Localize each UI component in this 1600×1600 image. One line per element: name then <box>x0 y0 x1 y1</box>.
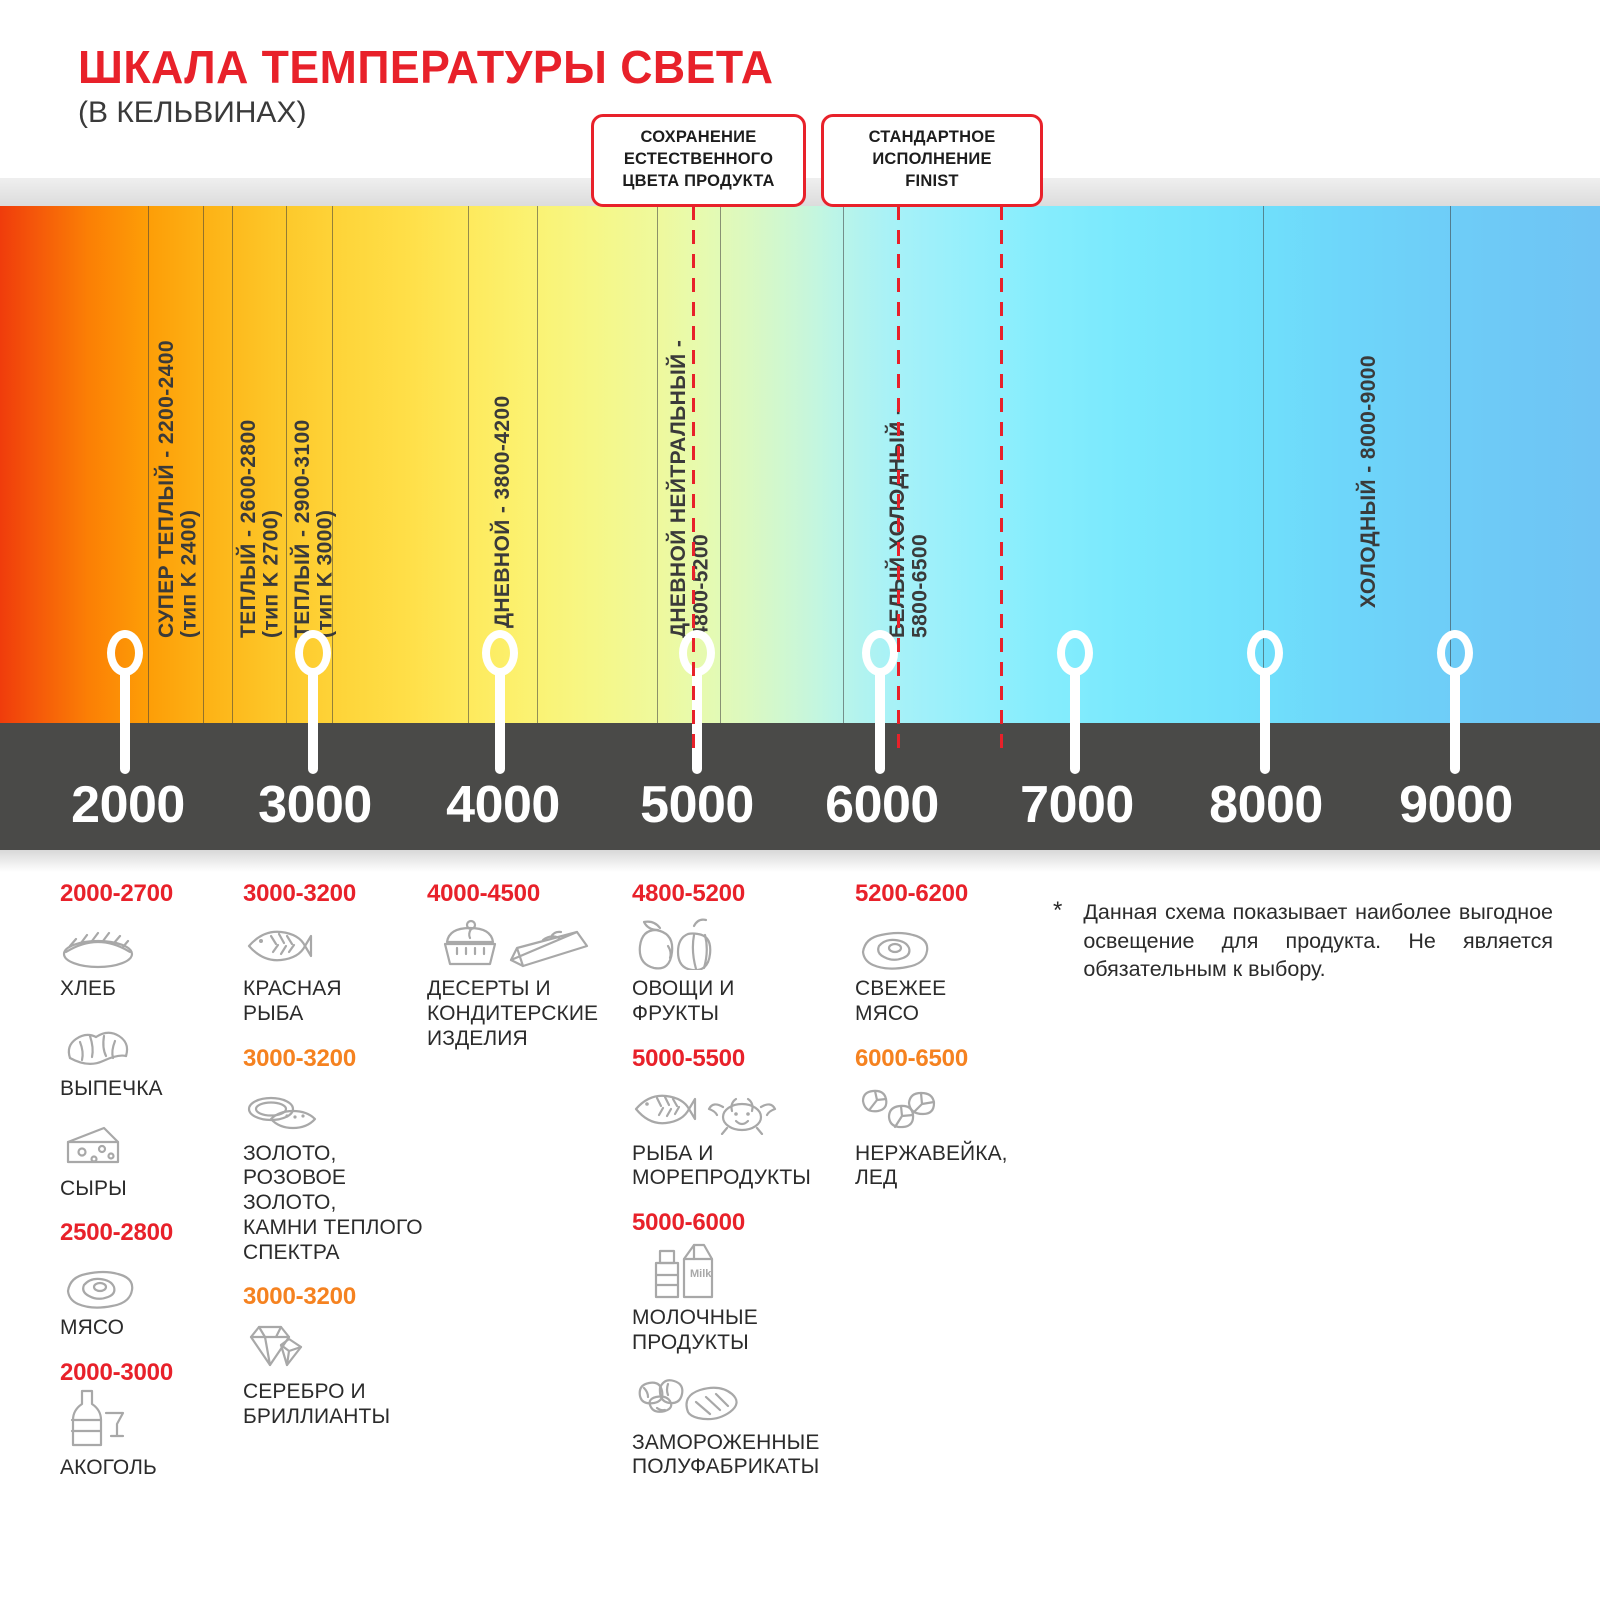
legend-item-label: НЕРЖАВЕЙКА, ЛЕД <box>855 1142 1035 1192</box>
legend-group-range: 2000-2700 <box>60 880 235 908</box>
legend-item: СЫРЫ <box>60 1118 235 1202</box>
legend-group-range: 5000-5500 <box>632 1045 847 1073</box>
band-divider <box>148 206 149 723</box>
footnote-marker: * <box>1053 898 1062 984</box>
marker-line-finist-low <box>897 206 900 751</box>
band-divider <box>537 206 538 723</box>
band-label-bely-holodny: БЕЛЫЙ ХОЛОДНЫЙ -5800-6500 <box>887 318 932 638</box>
footnote-text: Данная схема показывает наиболее выгодно… <box>1083 898 1553 984</box>
axis-tick-8000: 8000 <box>1209 775 1323 835</box>
legend-group: 3000-3200ЗОЛОТО, РОЗОВОЕ ЗОЛОТО, КАМНИ Т… <box>243 1045 423 1266</box>
frozen-food-icon <box>632 1372 847 1424</box>
rings-icon <box>243 1083 423 1135</box>
legend-item-label: РЫБА И МОРЕПРОДУКТЫ <box>632 1142 847 1192</box>
legend-item: НЕРЖАВЕЙКА, ЛЕД <box>855 1083 1035 1192</box>
legend-item-label: ДЕСЕРТЫ И КОНДИТЕРСКИЕ ИЗДЕЛИЯ <box>427 977 617 1051</box>
marker-line-natural-color <box>692 206 695 751</box>
legend-group-range: 6000-6500 <box>855 1045 1035 1073</box>
axis-tick-6000: 6000 <box>825 775 939 835</box>
legend-group-range: 4800-5200 <box>632 880 847 908</box>
legend-group: 4800-5200ОВОЩИ И ФРУКТЫ <box>632 880 847 1027</box>
legend-group: 5000-5500РЫБА И МОРЕПРОДУКТЫ <box>632 1045 847 1192</box>
band-divider <box>203 206 204 723</box>
axis-tick-7000: 7000 <box>1020 775 1134 835</box>
band-divider <box>843 206 844 723</box>
legend-column-5: 5200-6200СВЕЖЕЕ МЯСО6000-6500НЕРЖАВЕЙКА,… <box>855 880 1035 1209</box>
legend-group-range: 2500-2800 <box>60 1219 235 1247</box>
legend-item: ЗОЛОТО, РОЗОВОЕ ЗОЛОТО, КАМНИ ТЕПЛОГО СП… <box>243 1083 423 1266</box>
legend-group: 2500-2800МЯСО <box>60 1219 235 1341</box>
legend-item-label: СЫРЫ <box>60 1177 235 1202</box>
legend-item: ОВОЩИ И ФРУКТЫ <box>632 918 847 1027</box>
legend-item-label: СЕРЕБРО И БРИЛЛИАНТЫ <box>243 1380 423 1430</box>
legend-group-range: 3000-3200 <box>243 880 423 908</box>
legend-group: 5000-6000MilkМОЛОЧНЫЕ ПРОДУКТЫЗАМОРОЖЕНН… <box>632 1209 847 1480</box>
band-label-teply-2700: ТЕПЛЫЙ - 2600-2800(тип K 2700) <box>238 348 283 638</box>
legend-item-label: МЯСО <box>60 1316 235 1341</box>
legend-item: РЫБА И МОРЕПРОДУКТЫ <box>632 1083 847 1192</box>
legend-group-range: 5200-6200 <box>855 880 1035 908</box>
legend-item: ВЫПЕЧКА <box>60 1018 235 1102</box>
legend-group-range: 4000-4500 <box>427 880 617 908</box>
infographic-root: ШКАЛА ТЕМПЕРАТУРЫ СВЕТА (В КЕЛЬВИНАХ) СО… <box>0 0 1600 1600</box>
band-label-super-teply: СУПЕР ТЕПЛЫЙ - 2200-2400(тип K 2400) <box>156 248 201 638</box>
legend-item-label: ЗАМОРОЖЕННЫЕ ПОЛУФАБРИКАТЫ <box>632 1431 847 1481</box>
callout-line-3: ЦВЕТА ПРОДУКТА <box>606 171 791 193</box>
axis-tick-9000: 9000 <box>1399 775 1513 835</box>
legend-column-2: 3000-3200КРАСНАЯ РЫБА3000-3200ЗОЛОТО, РО… <box>243 880 423 1448</box>
legend-item-label: КРАСНАЯ РЫБА <box>243 977 423 1027</box>
legend-group: 2000-3000АКОГОЛЬ <box>60 1359 235 1481</box>
seafood-icon <box>632 1083 847 1135</box>
legend-column-3: 4000-4500ДЕСЕРТЫ И КОНДИТЕРСКИЕ ИЗДЕЛИЯ <box>427 880 617 1069</box>
page-subtitle: (В КЕЛЬВИНАХ) <box>78 96 306 130</box>
legend: 2000-2700ХЛЕБВЫПЕЧКАСЫРЫ2500-2800МЯСО200… <box>0 880 1600 1600</box>
legend-item: ЗАМОРОЖЕННЫЕ ПОЛУФАБРИКАТЫ <box>632 1372 847 1481</box>
legend-item-label: ОВОЩИ И ФРУКТЫ <box>632 977 847 1027</box>
marker-line-finist-high <box>1000 206 1003 751</box>
legend-item: МЯСО <box>60 1257 235 1341</box>
fish-icon <box>243 918 423 970</box>
legend-item-label: ХЛЕБ <box>60 977 235 1002</box>
legend-group-range: 3000-3200 <box>243 1283 423 1311</box>
cheese-icon <box>60 1118 235 1170</box>
legend-item: СЕРЕБРО И БРИЛЛИАНТЫ <box>243 1321 423 1430</box>
legend-column-1: 2000-2700ХЛЕБВЫПЕЧКАСЫРЫ2500-2800МЯСО200… <box>60 880 235 1499</box>
axis-band <box>0 723 1600 850</box>
callout-natural-color: СОХРАНЕНИЕ ЕСТЕСТВЕННОГО ЦВЕТА ПРОДУКТА <box>591 114 806 207</box>
legend-item: АКОГОЛЬ <box>60 1397 235 1481</box>
legend-item-label: АКОГОЛЬ <box>60 1456 235 1481</box>
fruits-vegetables-icon <box>632 918 847 970</box>
band-label-dnevnoy: ДНЕВНОЙ - 3800-4200 <box>492 328 515 628</box>
milk-icon: Milk <box>632 1247 847 1299</box>
band-divider <box>657 206 658 723</box>
axis-band-shadow <box>0 850 1600 872</box>
axis-tick-3000: 3000 <box>258 775 372 835</box>
legend-item-label: ВЫПЕЧКА <box>60 1077 235 1102</box>
svg-text:Milk: Milk <box>690 1268 712 1280</box>
ice-cubes-icon <box>855 1083 1035 1135</box>
band-divider <box>720 206 721 723</box>
band-label-teply-3000: ТЕПЛЫЙ - 2900-3100(тип K 3000) <box>292 348 337 638</box>
legend-group: 2000-2700ХЛЕБВЫПЕЧКАСЫРЫ <box>60 880 235 1201</box>
band-divider <box>468 206 469 723</box>
callout-line-1: СОХРАНЕНИЕ <box>606 127 791 149</box>
legend-item-label: МОЛОЧНЫЕ ПРОДУКТЫ <box>632 1306 847 1356</box>
legend-item: КРАСНАЯ РЫБА <box>243 918 423 1027</box>
legend-group-range: 5000-6000 <box>632 1209 847 1237</box>
legend-group: 3000-3200СЕРЕБРО И БРИЛЛИАНТЫ <box>243 1283 423 1430</box>
legend-item: ДЕСЕРТЫ И КОНДИТЕРСКИЕ ИЗДЕЛИЯ <box>427 918 617 1051</box>
legend-group: 6000-6500НЕРЖАВЕЙКА, ЛЕД <box>855 1045 1035 1192</box>
legend-group: 5200-6200СВЕЖЕЕ МЯСО <box>855 880 1035 1027</box>
page-title: ШКАЛА ТЕМПЕРАТУРЫ СВЕТА <box>78 40 774 94</box>
axis-tick-5000: 5000 <box>640 775 754 835</box>
axis-tick-4000: 4000 <box>446 775 560 835</box>
callout-standard-finist: СТАНДАРТНОЕ ИСПОЛНЕНИЕ FINIST <box>821 114 1043 207</box>
band-label-holodny: ХОЛОДНЫЙ - 8000-9000 <box>1358 308 1381 608</box>
diamond-icon <box>243 1321 423 1373</box>
legend-group-range: 3000-3200 <box>243 1045 423 1073</box>
legend-group: 4000-4500ДЕСЕРТЫ И КОНДИТЕРСКИЕ ИЗДЕЛИЯ <box>427 880 617 1051</box>
legend-item: СВЕЖЕЕ МЯСО <box>855 918 1035 1027</box>
callout-line-2: ИСПОЛНЕНИЕ <box>836 149 1028 171</box>
band-label-dnevnoy-neutral: ДНЕВНОЙ НЕЙТРАЛЬНЫЙ -4800-5200 <box>668 248 713 638</box>
legend-item-label: СВЕЖЕЕ МЯСО <box>855 977 1035 1027</box>
bread-icon <box>60 918 235 970</box>
steak-icon <box>60 1257 235 1309</box>
legend-column-4: 4800-5200ОВОЩИ И ФРУКТЫ5000-5500РЫБА И М… <box>632 880 847 1498</box>
footnote: * Данная схема показывает наиболее выгод… <box>1053 898 1553 984</box>
callout-line-3: FINIST <box>836 171 1028 193</box>
legend-item: MilkМОЛОЧНЫЕ ПРОДУКТЫ <box>632 1247 847 1356</box>
croissant-icon <box>60 1018 235 1070</box>
alcohol-icon <box>60 1397 235 1449</box>
band-divider <box>232 206 233 723</box>
legend-item: ХЛЕБ <box>60 918 235 1002</box>
callout-line-2: ЕСТЕСТВЕННОГО <box>606 149 791 171</box>
legend-group: 3000-3200КРАСНАЯ РЫБА <box>243 880 423 1027</box>
fresh-meat-icon <box>855 918 1035 970</box>
band-divider <box>286 206 287 723</box>
callout-line-1: СТАНДАРТНОЕ <box>836 127 1028 149</box>
legend-item-label: ЗОЛОТО, РОЗОВОЕ ЗОЛОТО, КАМНИ ТЕПЛОГО СП… <box>243 1142 423 1266</box>
axis-tick-2000: 2000 <box>71 775 185 835</box>
dessert-icon <box>427 918 617 970</box>
